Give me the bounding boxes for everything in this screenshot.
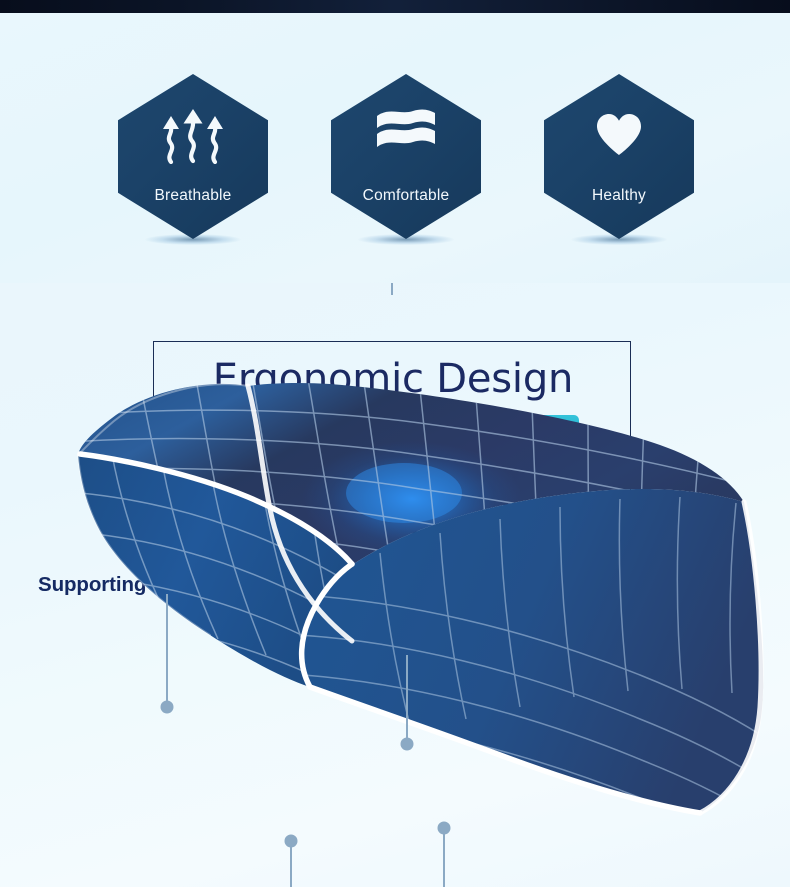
wavy-fabric-icon: [331, 104, 481, 166]
leader-dot-lower-left: [286, 836, 297, 847]
feature-label: Breathable: [118, 187, 268, 205]
pillow-illustration: [0, 283, 790, 887]
features-section: Breathable Comfortable: [0, 13, 790, 283]
feature-item-healthy[interactable]: Healthy: [544, 74, 694, 256]
top-dark-bar: [0, 0, 790, 13]
ergonomic-section: Ergonomic Design Sleeping position in al…: [0, 283, 790, 887]
leader-dot-lower-right: [439, 823, 450, 834]
leader-dot-side-sleep: [162, 702, 173, 713]
feature-label: Comfortable: [331, 187, 481, 205]
airflow-arrows-icon: [118, 104, 268, 166]
feature-item-breathable[interactable]: Breathable: [118, 74, 268, 256]
feature-label: Healthy: [544, 187, 694, 205]
heart-icon: [544, 104, 694, 166]
product-detail-page: Breathable Comfortable: [0, 0, 790, 887]
feature-hexagon-row: Breathable Comfortable: [0, 13, 790, 283]
feature-item-comfortable[interactable]: Comfortable: [331, 74, 481, 256]
leader-dot-supine-sleep: [402, 739, 413, 750]
